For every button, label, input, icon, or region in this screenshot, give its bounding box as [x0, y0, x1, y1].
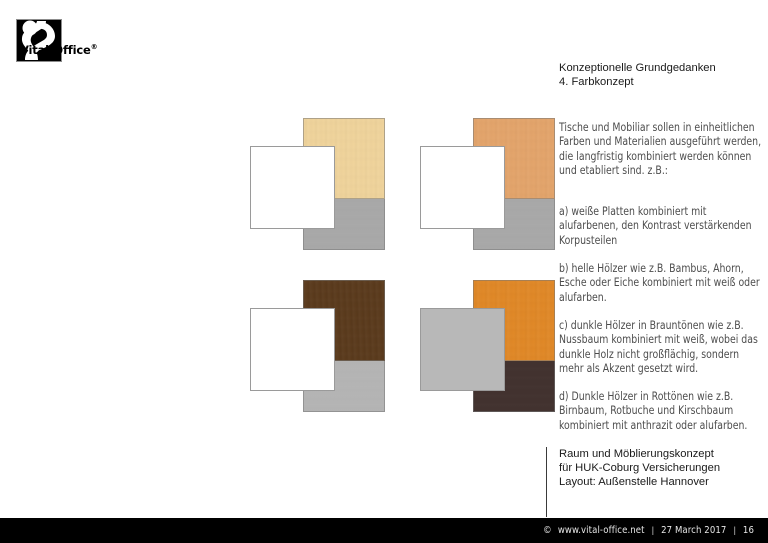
page-title-line1: Konzeptionelle Grundgedanken	[559, 61, 765, 75]
footer-bar: © www.vital-office.net | 27 March 2017 |…	[0, 518, 768, 543]
swatch-front-d	[420, 308, 505, 391]
paragraph-item-d: d) Dunkle Hölzer in Rottönen wie z.B. Bi…	[559, 390, 765, 433]
project-line3: Layout: Außenstelle Hannover	[559, 475, 768, 489]
swatch-front-c	[250, 308, 335, 391]
logo-wordmark: Vital-Office®	[20, 44, 97, 56]
page-title: Konzeptionelle Grundgedanken 4. Farbkonz…	[559, 61, 765, 89]
vertical-divider	[546, 447, 547, 517]
footer-separator-2: |	[733, 525, 735, 536]
footer-page-number: 16	[743, 525, 754, 536]
page-title-line2: 4. Farbkonzept	[559, 75, 765, 89]
project-line1: Raum und Möblierungskonzept	[559, 447, 768, 461]
vital-office-logo: Vital-Office®	[16, 19, 62, 62]
footer-website[interactable]: www.vital-office.net	[558, 525, 645, 536]
swatch-group-a	[250, 118, 385, 250]
swatch-group-b	[420, 118, 555, 250]
footer-date: 27 March 2017	[661, 525, 726, 536]
paragraph-item-b: b) helle Hölzer wie z.B. Bambus, Ahorn, …	[559, 262, 765, 305]
paragraph-intro: Tische und Mobiliar sollen in einheitlic…	[559, 121, 765, 179]
swatch-group-c	[250, 280, 385, 412]
swatch-group-d	[420, 280, 555, 412]
copyright-icon: ©	[543, 525, 552, 536]
swatch-front-b	[420, 146, 505, 229]
footer-separator-1: |	[652, 525, 654, 536]
swatch-front-a	[250, 146, 335, 229]
project-line2: für HUK-Coburg Versicherungen	[559, 461, 768, 475]
project-info: Raum und Möblierungskonzept für HUK-Cobu…	[559, 447, 768, 490]
paragraph-item-a: a) weiße Platten kombiniert mit alufarbe…	[559, 205, 765, 248]
paragraph-item-c: c) dunkle Hölzer in Brauntönen wie z.B. …	[559, 319, 765, 377]
